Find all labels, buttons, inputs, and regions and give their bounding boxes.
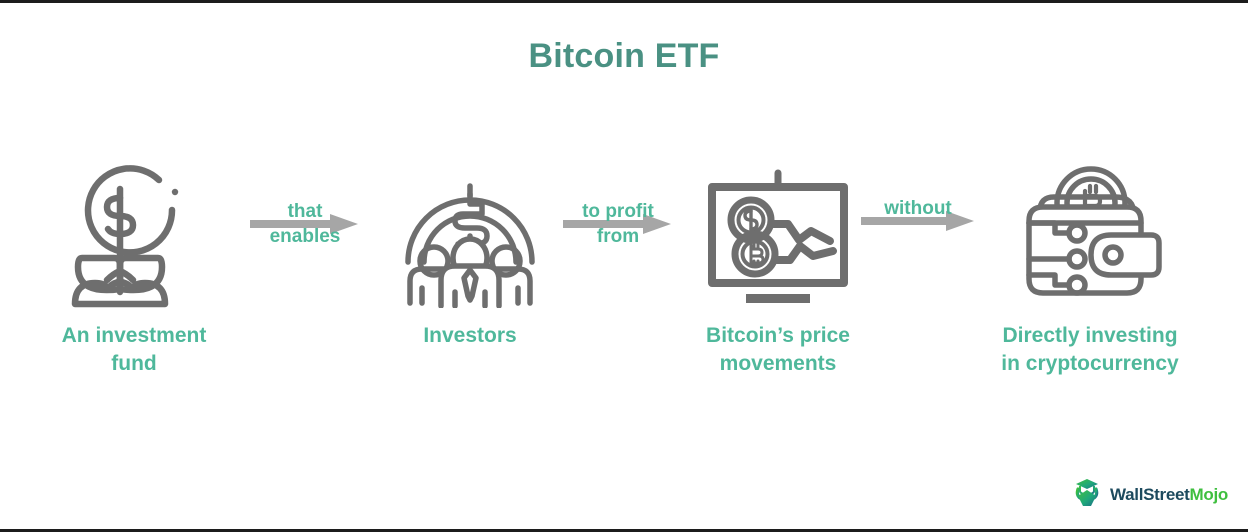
- logo-text-mojo: Mojo: [1190, 485, 1228, 504]
- node-caption: An investmentfund: [34, 322, 234, 377]
- logo-text-wallstreet: WallStreet: [1110, 485, 1190, 504]
- crypto-wallet-icon: [985, 158, 1195, 308]
- node-caption: Bitcoin’s pricemovements: [678, 322, 878, 377]
- logo-text: WallStreetMojo: [1110, 485, 1228, 505]
- flow-node-investment-fund: An investmentfund: [34, 158, 234, 377]
- connector-without: without: [858, 198, 978, 223]
- node-caption: Investors: [375, 322, 565, 350]
- infographic-canvas: Bitcoin ETF: [0, 0, 1248, 532]
- arrow-right-icon: [558, 213, 678, 235]
- flow-node-bitcoin-price: Bitcoin’s pricemovements: [678, 168, 878, 377]
- connector-to-profit-from: to profit from: [558, 201, 678, 248]
- connector-that-enables: that enables: [245, 201, 365, 248]
- investors-group-icon: [375, 158, 565, 308]
- flow-node-crypto-wallet: Directly investingin cryptocurrency: [985, 158, 1195, 377]
- arrow-right-icon: [858, 210, 978, 232]
- price-chart-monitor-icon: [678, 168, 878, 308]
- arrow-right-icon: [245, 213, 365, 235]
- flow-node-investors: Investors: [375, 158, 565, 350]
- wallstreetmojo-graduate-icon: [1071, 476, 1103, 513]
- money-plant-icon: [34, 158, 234, 308]
- page-title: Bitcoin ETF: [0, 37, 1248, 76]
- wallstreetmojo-logo[interactable]: WallStreetMojo: [1071, 476, 1228, 513]
- node-caption: Directly investingin cryptocurrency: [985, 322, 1195, 377]
- flow-diagram: An investmentfund that enables: [0, 158, 1248, 408]
